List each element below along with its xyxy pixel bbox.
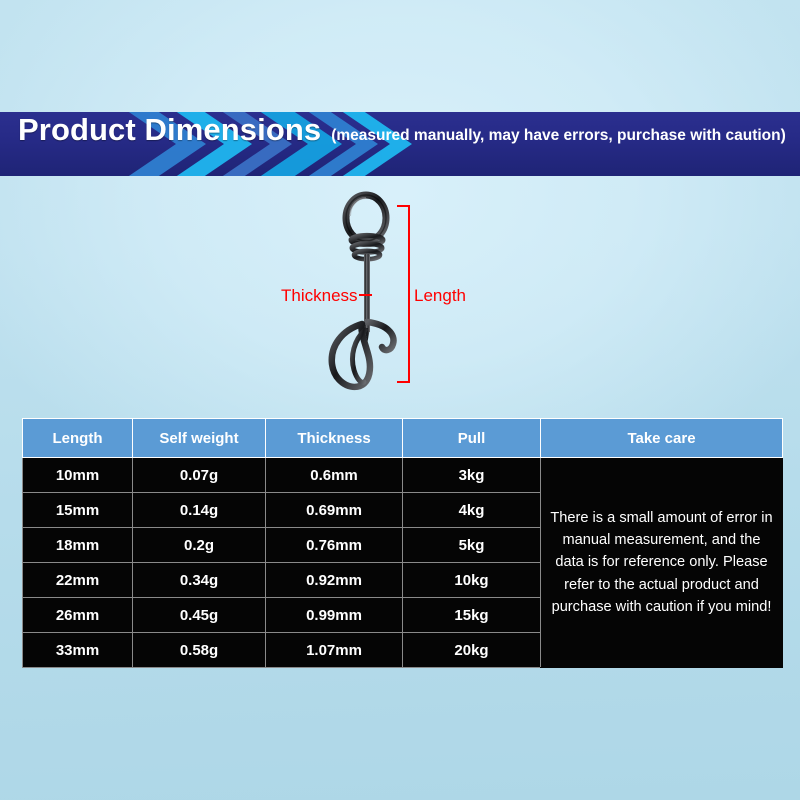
cell-thickness: 0.99mm	[266, 598, 403, 633]
specifications-table: Length Self weight Thickness Pull Take c…	[22, 418, 783, 668]
cell-thickness: 1.07mm	[266, 633, 403, 668]
cell-weight: 0.2g	[133, 528, 266, 563]
banner-subtitle: (measured manually, may have errors, pur…	[331, 127, 786, 145]
cell-pull: 20kg	[403, 633, 541, 668]
cell-pull: 15kg	[403, 598, 541, 633]
cell-pull: 5kg	[403, 528, 541, 563]
cell-thickness: 0.76mm	[266, 528, 403, 563]
thickness-tick	[358, 291, 374, 299]
column-header-pull: Pull	[403, 419, 541, 458]
cell-weight: 0.58g	[133, 633, 266, 668]
cell-weight: 0.45g	[133, 598, 266, 633]
cell-length: 26mm	[23, 598, 133, 633]
cell-thickness: 0.92mm	[266, 563, 403, 598]
cell-pull: 4kg	[403, 493, 541, 528]
column-header-length: Length	[23, 419, 133, 458]
cell-length: 22mm	[23, 563, 133, 598]
table-header-row: Length Self weight Thickness Pull Take c…	[23, 419, 783, 458]
cell-length: 10mm	[23, 458, 133, 493]
take-care-note: There is a small amount of error in manu…	[541, 458, 783, 668]
column-header-take-care: Take care	[541, 419, 783, 458]
cell-pull: 3kg	[403, 458, 541, 493]
table-row: 10mm 0.07g 0.6mm 3kg There is a small am…	[23, 458, 783, 493]
cell-weight: 0.14g	[133, 493, 266, 528]
length-annotation-label: Length	[414, 286, 466, 306]
cell-length: 15mm	[23, 493, 133, 528]
banner-text-group: Product Dimensions (measured manually, m…	[0, 112, 800, 176]
cell-weight: 0.07g	[133, 458, 266, 493]
cell-weight: 0.34g	[133, 563, 266, 598]
column-header-weight: Self weight	[133, 419, 266, 458]
banner: Product Dimensions (measured manually, m…	[0, 112, 800, 176]
column-header-thickness: Thickness	[266, 419, 403, 458]
product-illustration-area	[0, 176, 800, 412]
cell-length: 33mm	[23, 633, 133, 668]
product-dimensions-page: Product Dimensions (measured manually, m…	[0, 0, 800, 800]
page-title: Product Dimensions	[18, 112, 321, 148]
cell-length: 18mm	[23, 528, 133, 563]
cell-thickness: 0.69mm	[266, 493, 403, 528]
cell-pull: 10kg	[403, 563, 541, 598]
thickness-annotation-label: Thickness	[281, 286, 358, 306]
cell-thickness: 0.6mm	[266, 458, 403, 493]
